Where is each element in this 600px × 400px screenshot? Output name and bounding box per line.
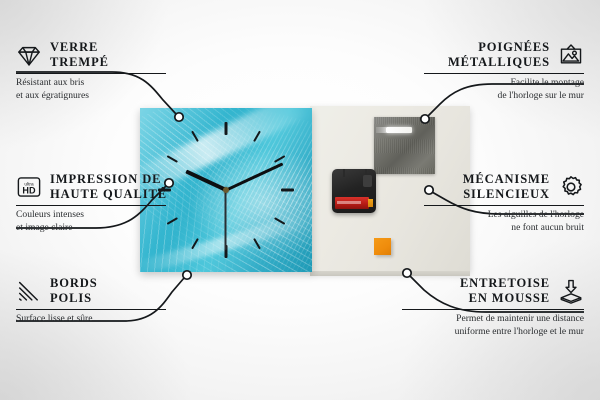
callout-subtitle-line1: Facilite le montage [424, 77, 584, 89]
clock-center-cap [223, 187, 229, 193]
callout-title: BORDS POLIS [50, 276, 98, 306]
callout-header: ENTRETOISE EN MOUSSE [402, 276, 584, 306]
callout-header: VERRE TREMPÉ [16, 40, 166, 70]
diamond-icon [16, 42, 42, 68]
callout-divider [402, 309, 584, 311]
callout-impression-haute-qualite: ultra HD IMPRESSION DE HAUTE QUALITÉ Cou… [16, 172, 166, 234]
callout-subtitle-line1: Résistant aux bris [16, 77, 166, 89]
callout-header: POIGNÉES MÉTALLIQUES [424, 40, 584, 70]
callout-subtitle-line1: Les aiguilles de l'horloge [424, 209, 584, 221]
battery-label-band [337, 201, 361, 204]
callout-header: ultra HD IMPRESSION DE HAUTE QUALITÉ [16, 172, 166, 202]
callout-title: ENTRETOISE EN MOUSSE [460, 276, 550, 306]
callout-subtitle-line1: Permet de maintenir une distance [402, 313, 584, 325]
svg-text:HD: HD [22, 185, 36, 195]
callout-subtitle-line1: Couleurs intenses [16, 209, 166, 221]
callout-divider [424, 73, 584, 75]
callout-bords-polis: BORDS POLIS Surface lisse et sûre [16, 276, 166, 326]
callout-title: VERRE TREMPÉ [50, 40, 109, 70]
product-image [140, 106, 470, 274]
callout-entretoise-en-mousse: ENTRETOISE EN MOUSSE Permet de maintenir… [402, 276, 584, 338]
callout-divider [424, 205, 584, 207]
polished-edge-icon [16, 278, 42, 304]
callout-subtitle-line2: uniforme entre l'horloge et le mur [402, 326, 584, 338]
callout-subtitle-line2: et image claire [16, 222, 166, 234]
callout-verre-trempe: VERRE TREMPÉ Résistant aux bris et aux é… [16, 40, 166, 102]
foam-spacer-pad [374, 238, 391, 255]
clock-tick [225, 122, 228, 135]
hanger-slot [386, 127, 412, 133]
metal-hanger-plate [374, 117, 435, 174]
clock-mechanism-box [332, 169, 376, 213]
foam-spacer-arrow-icon [558, 278, 584, 304]
ultra-hd-icon: ultra HD [16, 174, 42, 200]
callout-title: MÉCANISME SILENCIEUX [463, 172, 550, 202]
infographic-canvas: VERRE TREMPÉ Résistant aux bris et aux é… [0, 0, 600, 400]
callout-subtitle-line2: de l'horloge sur le mur [424, 90, 584, 102]
callout-subtitle-line1: Surface lisse et sûre [16, 313, 166, 325]
callout-title: IMPRESSION DE HAUTE QUALITÉ [50, 172, 167, 202]
callout-poignees-metalliques: POIGNÉES MÉTALLIQUES Facilite le montage… [424, 40, 584, 102]
callout-subtitle-line2: ne font aucun bruit [424, 222, 584, 234]
callout-divider [16, 309, 166, 311]
battery [335, 197, 369, 209]
callout-header: BORDS POLIS [16, 276, 166, 306]
gear-icon [558, 174, 584, 200]
mechanism-knob [363, 175, 372, 187]
picture-frame-hanger-icon [558, 42, 584, 68]
callout-subtitle-line2: et aux égratignures [16, 90, 166, 102]
callout-header: MÉCANISME SILENCIEUX [424, 172, 584, 202]
callout-divider [16, 205, 166, 207]
clock-tick [281, 189, 294, 192]
callout-divider [16, 73, 166, 75]
callout-mecanisme-silencieux: MÉCANISME SILENCIEUX Les aiguilles de l'… [424, 172, 584, 234]
callout-title: POIGNÉES MÉTALLIQUES [448, 40, 550, 70]
